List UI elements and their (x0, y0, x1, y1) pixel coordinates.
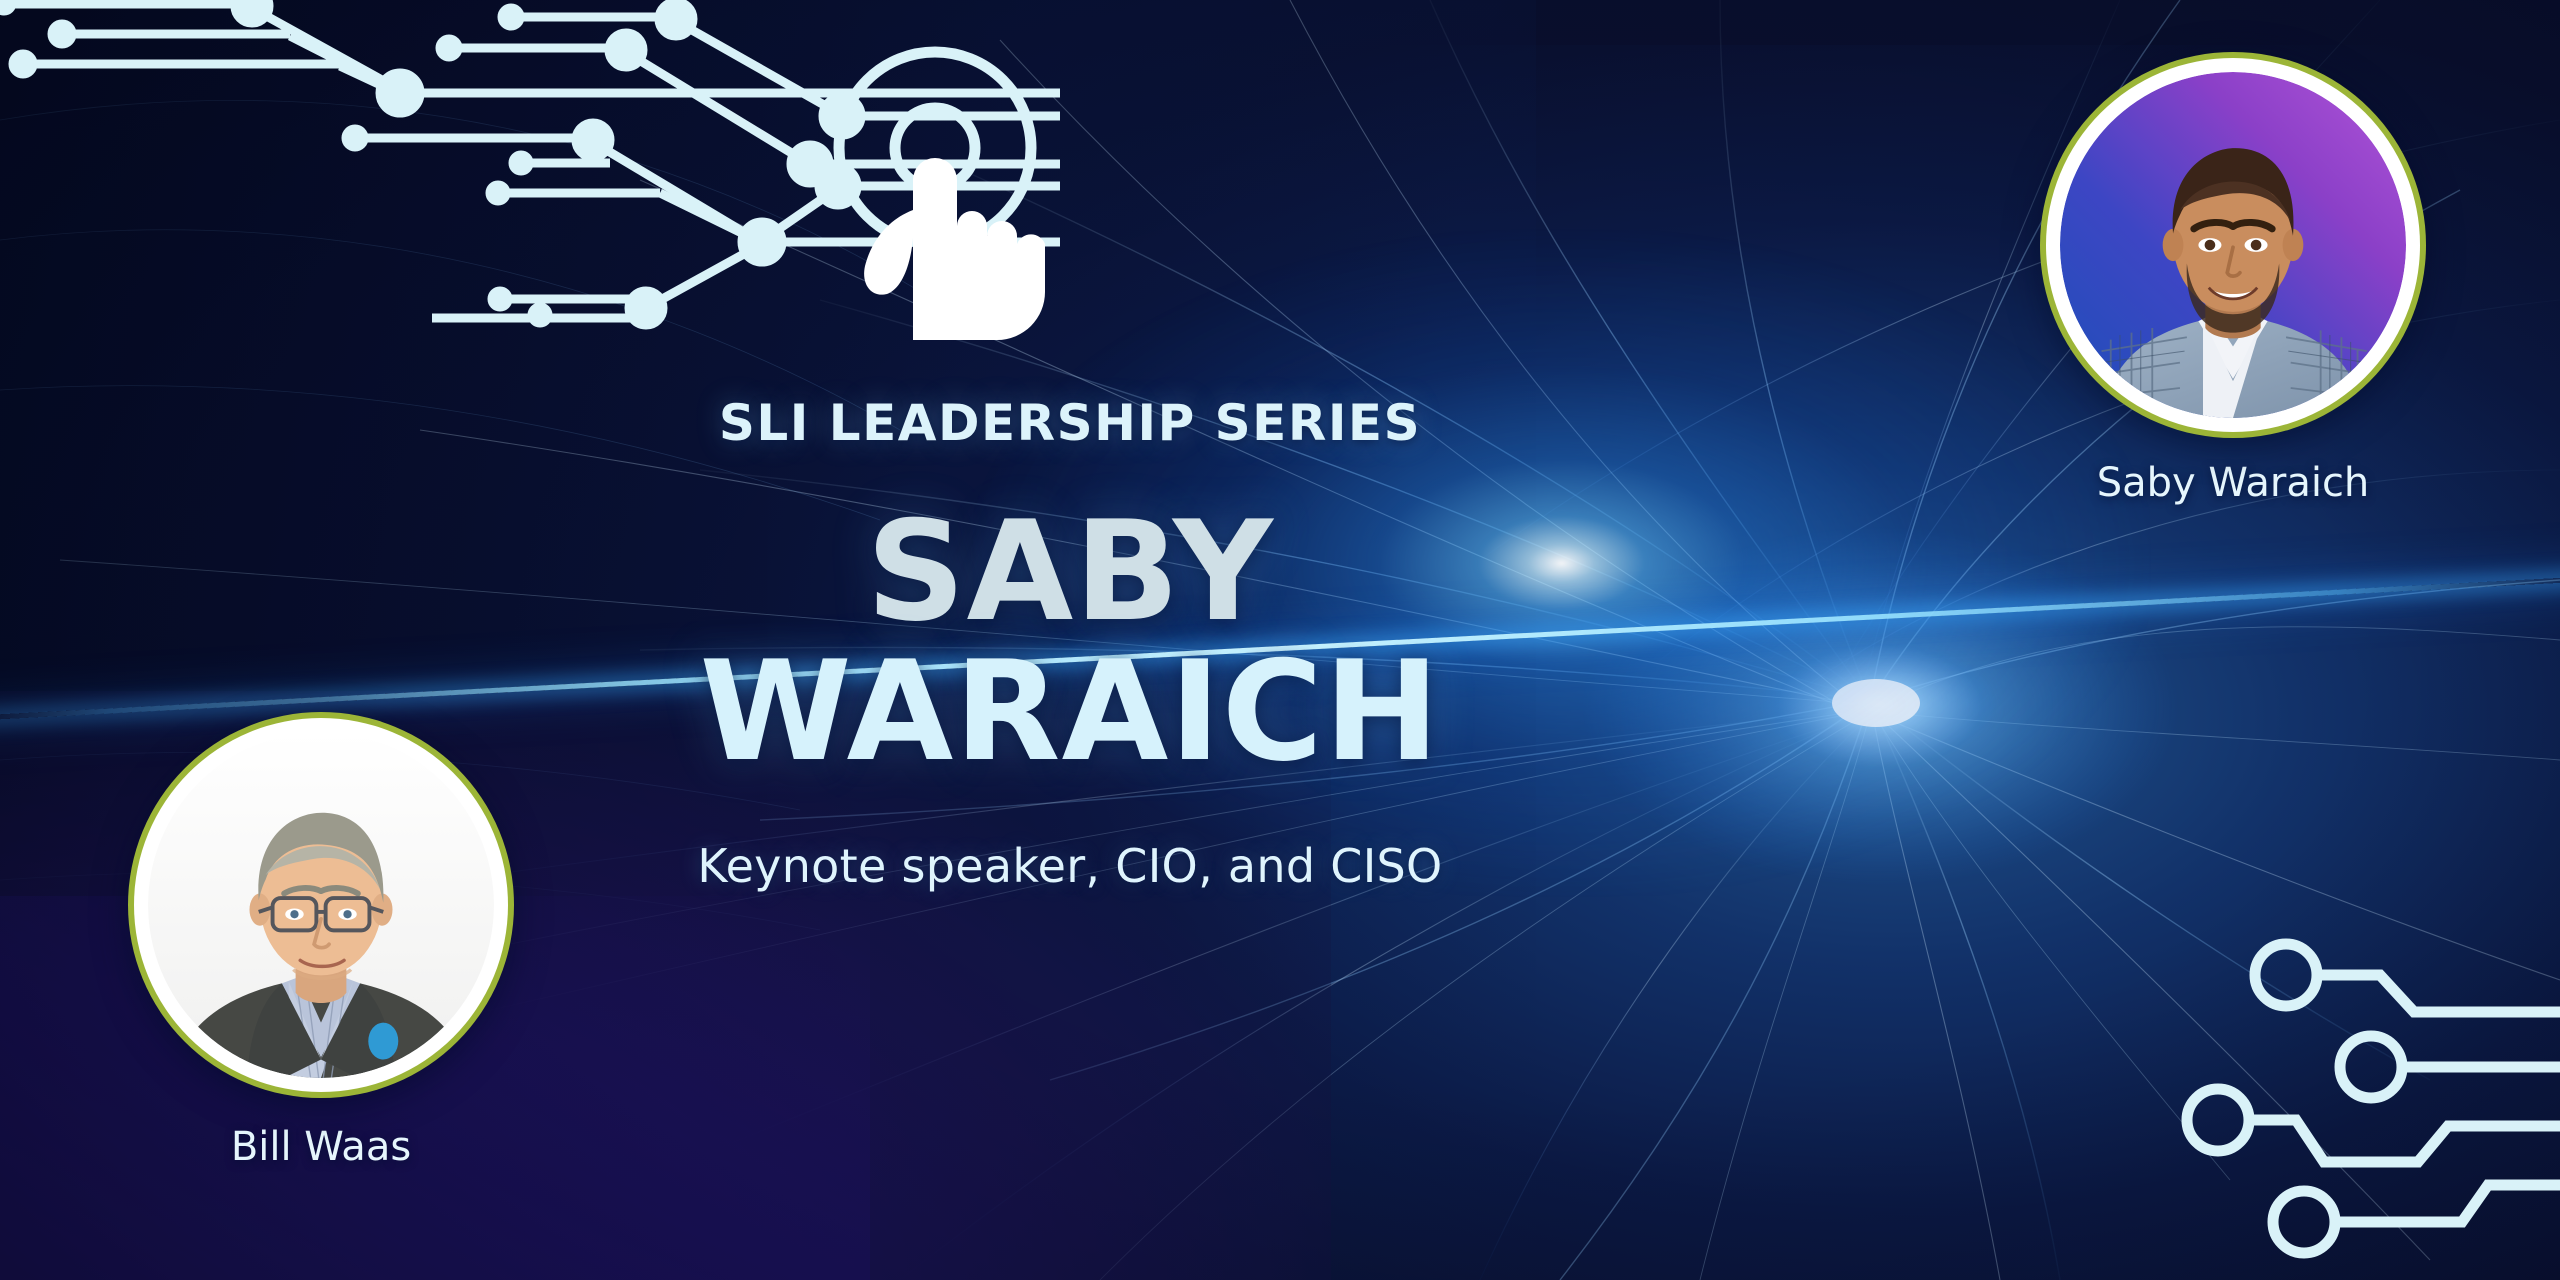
portrait-inner-ring (134, 718, 508, 1092)
headline-first-name: SABY (699, 498, 1440, 646)
portrait-inner-ring (2046, 58, 2420, 432)
circuit-nodes-icon (2166, 930, 2560, 1280)
speaker-tagline: Keynote speaker, CIO, and CISO (697, 839, 1442, 893)
portrait-saby-waraich: Saby Waraich (2040, 52, 2426, 506)
promo-banner: SLI LEADERSHIP SERIES SABY WARAICH Keyno… (0, 0, 2560, 1280)
headline-block: SLI LEADERSHIP SERIES SABY WARAICH Keyno… (530, 150, 1610, 1130)
portrait-ring (2040, 52, 2426, 438)
page-title: SABY WARAICH (699, 498, 1440, 785)
portrait-ring (128, 712, 514, 1098)
avatar (148, 732, 494, 1078)
series-eyebrow: SLI LEADERSHIP SERIES (719, 394, 1421, 452)
avatar-illustration-saby (2060, 72, 2406, 418)
headline-last-name: WARAICH (699, 638, 1440, 786)
avatar-illustration-bill (148, 732, 494, 1078)
avatar (2060, 72, 2406, 418)
portrait-bill-waas: Bill Waas (128, 712, 514, 1170)
portrait-caption-saby: Saby Waraich (2040, 460, 2426, 506)
portrait-caption-bill: Bill Waas (128, 1124, 514, 1170)
